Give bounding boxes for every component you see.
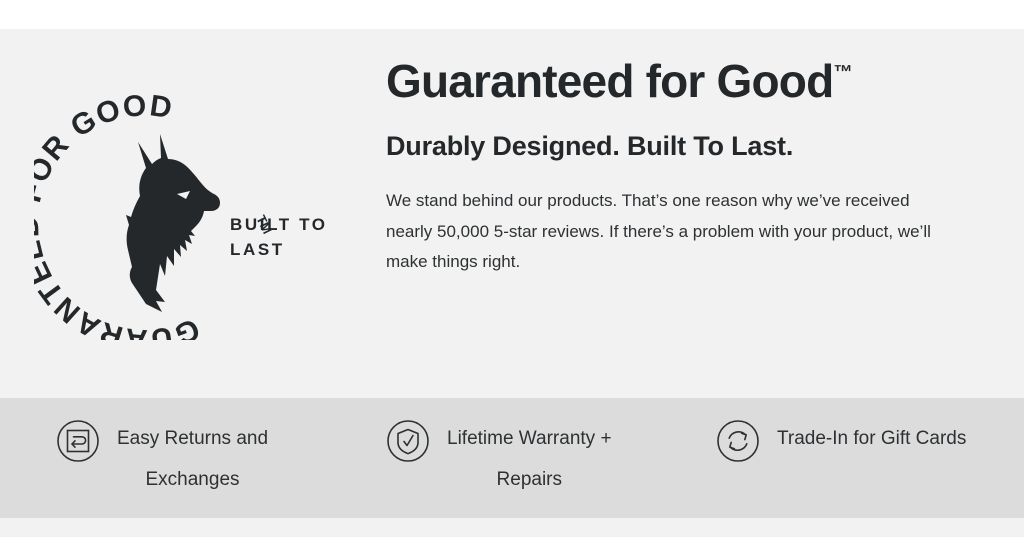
feature-item-returns[interactable]: Easy Returns and Exchanges [56,419,386,501]
feature-label-line2: Repairs [447,460,612,501]
feature-item-trade-in[interactable]: Trade-In for Gift Cards [716,419,1024,463]
feature-item-warranty[interactable]: Lifetime Warranty + Repairs [386,419,716,501]
headline-text: Guaranteed for Good [386,55,833,107]
hero-section: GUARANTEED FOR GOOD TM BUILT TO LAST [0,29,1024,398]
feature-label-returns: Easy Returns and Exchanges [117,419,268,501]
headline-trademark: ™ [833,63,852,84]
return-exchange-icon [56,419,100,463]
hero-body-text: We stand behind our products. That’s one… [386,186,931,277]
llama-head-icon [126,134,220,312]
feature-label-warranty: Lifetime Warranty + Repairs [447,419,612,501]
hero-subheading: Durably Designed. Built To Last. [386,127,866,165]
top-white-strip [0,0,1024,29]
feature-label-line1: Lifetime Warranty + [447,419,612,460]
guaranteed-for-good-section: GUARANTEED FOR GOOD TM BUILT TO LAST [0,0,1024,537]
guaranteed-for-good-badge: GUARANTEED FOR GOOD TM BUILT TO LAST [34,90,334,340]
feature-label-line1: Trade-In for Gift Cards [777,419,966,460]
shield-check-icon [386,419,430,463]
badge-column: GUARANTEED FOR GOOD TM BUILT TO LAST [0,29,386,398]
page-title: Guaranteed for Good™ [386,56,856,107]
trade-in-loop-icon [716,419,760,463]
badge-tagline-line2: LAST [230,240,285,259]
feature-band: Easy Returns and Exchanges Lifetime Warr… [0,398,1024,518]
bottom-strip [0,518,1024,537]
badge-tagline-line1: BUILT TO [230,215,328,234]
feature-label-trade-in: Trade-In for Gift Cards [777,419,966,460]
feature-label-line2: Exchanges [117,460,268,501]
feature-label-line1: Easy Returns and [117,419,268,460]
hero-copy-column: Guaranteed for Good™ Durably Designed. B… [386,29,1024,277]
